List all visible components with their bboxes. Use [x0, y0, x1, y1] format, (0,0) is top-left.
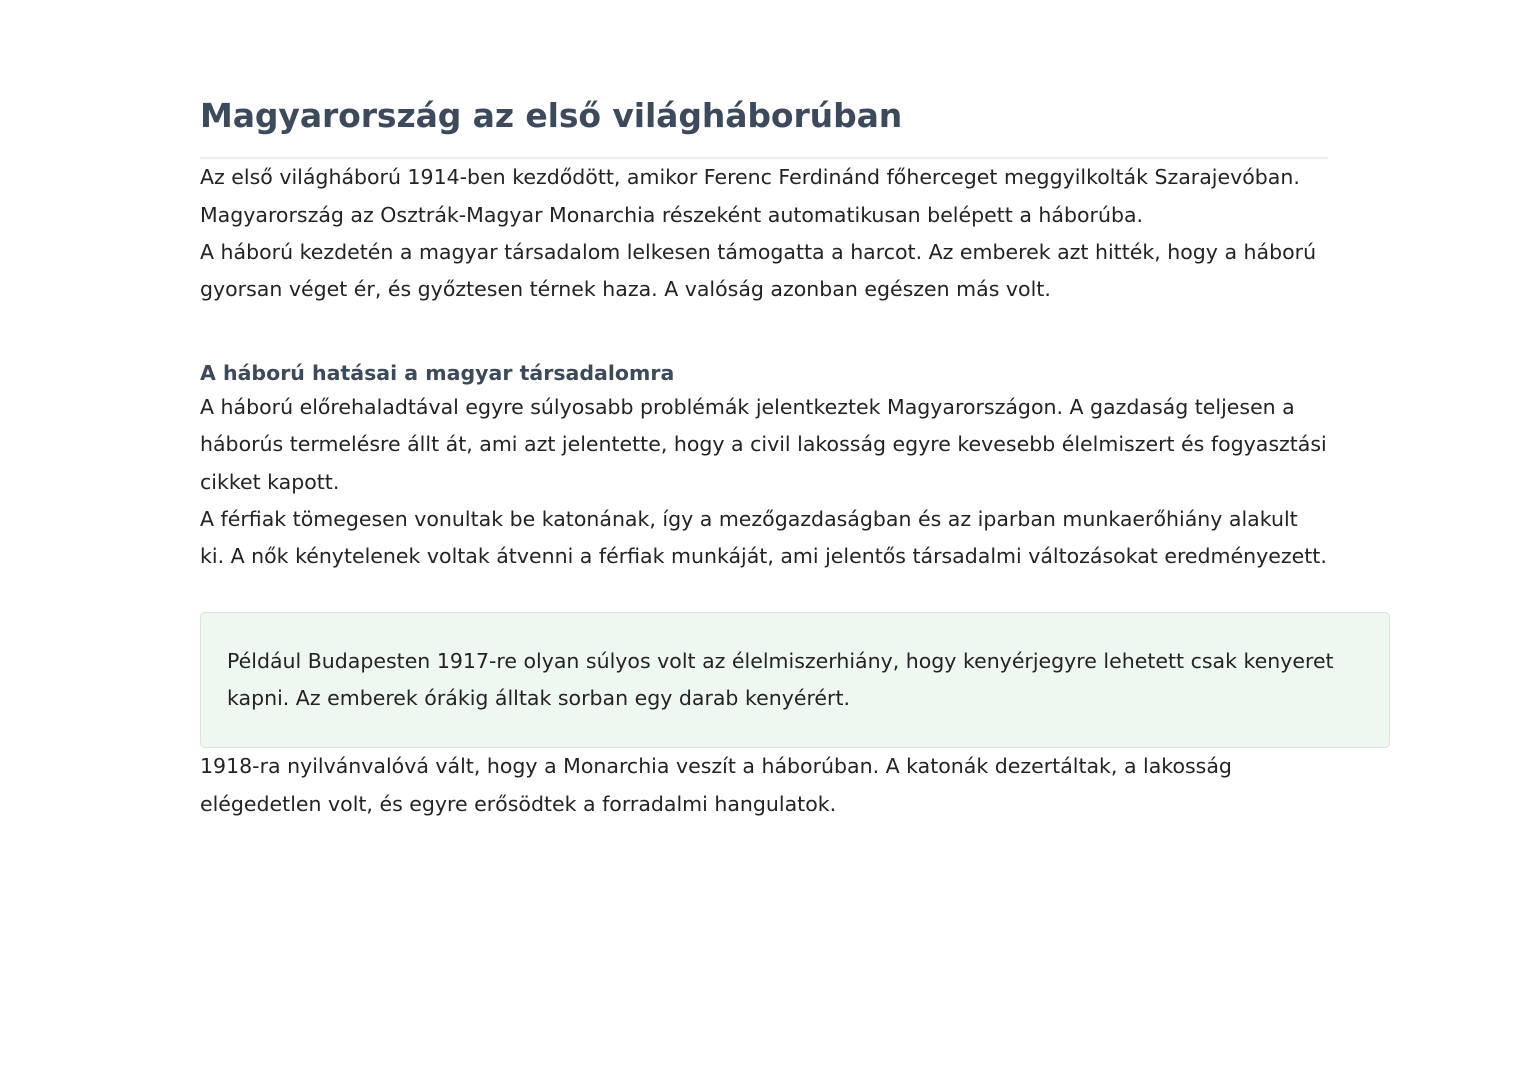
paragraph-support: A háború kezdetén a magyar társadalom le…	[200, 234, 1328, 309]
page-title: Magyarország az első világháborúban	[200, 96, 1328, 136]
document-content: Magyarország az első világháborúban Az e…	[200, 96, 1328, 823]
paragraph-economy: A háború előrehaladtával egyre súlyosabb…	[200, 389, 1328, 501]
callout-box-example: Például Budapesten 1917-re olyan súlyos …	[200, 612, 1390, 749]
callout-text: Például Budapesten 1917-re olyan súlyos …	[227, 643, 1361, 718]
paragraph-intro: Az első világháború 1914-ben kezdődött, …	[200, 159, 1328, 234]
paragraph-labour: A férfiak tömegesen vonultak be katonána…	[200, 501, 1328, 576]
section-heading-war-effects: A háború hatásai a magyar társadalomra	[200, 358, 1328, 389]
paragraph-conclusion: 1918-ra nyilvánvalóvá vált, hogy a Monar…	[200, 748, 1328, 823]
document-page: Magyarország az első világháborúban Az e…	[0, 0, 1527, 1080]
